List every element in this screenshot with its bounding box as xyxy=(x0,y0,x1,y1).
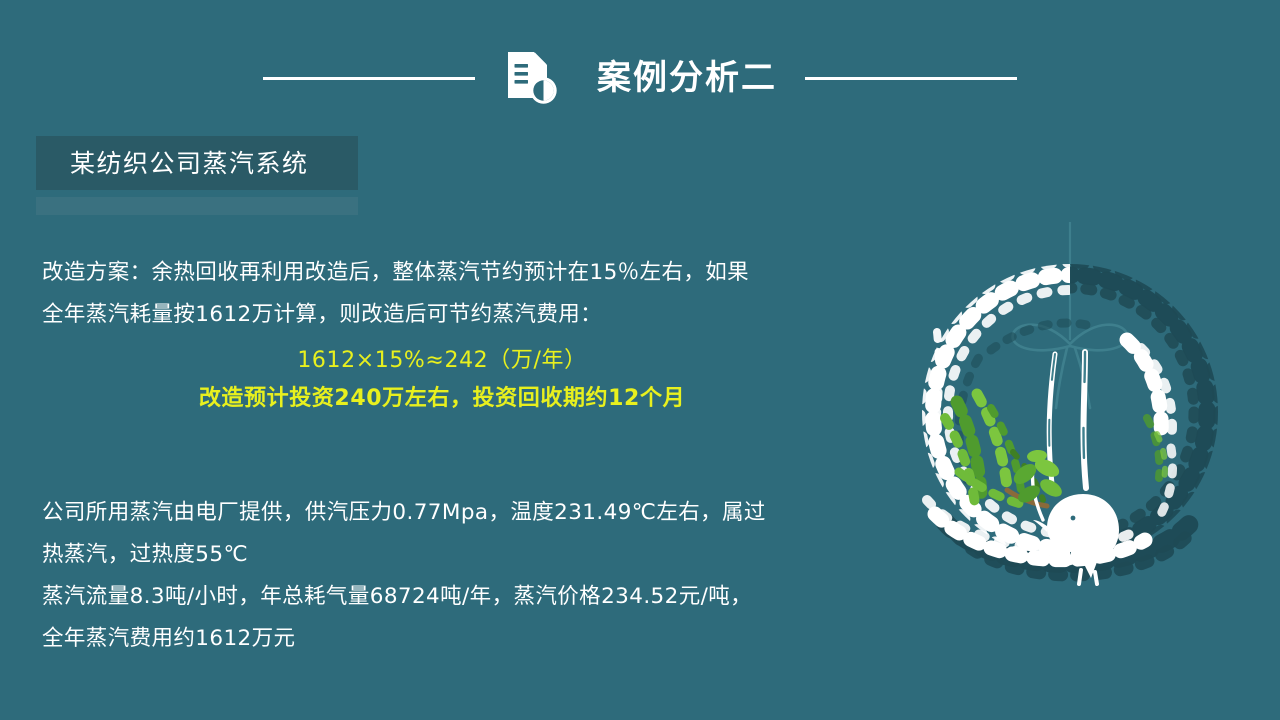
section-title-label: 某纺织公司蒸汽系统 xyxy=(70,151,309,176)
details-line-1: 公司所用蒸汽由电厂提供，供汽压力0.77Mpa，温度231.49℃左右，属过 xyxy=(42,492,766,534)
wreath-illustration xyxy=(895,222,1245,634)
divider-line-right-icon xyxy=(805,77,1017,80)
section-title-box: 某纺织公司蒸汽系统 xyxy=(36,136,358,190)
details-line-3: 蒸汽流量8.3吨/小时，年总耗气量68724吨/年，蒸汽价格234.52元/吨， xyxy=(42,576,766,618)
highlight-formula: 1612×15%≈242（万/年） xyxy=(42,346,842,376)
twig-wreath-light-icon xyxy=(920,262,1220,562)
ribbon-tails-icon xyxy=(1049,352,1086,488)
slide-header: 案例分析二 xyxy=(0,46,1280,110)
details-line-4: 全年蒸汽费用约1612万元 xyxy=(42,618,766,660)
intro-line-2: 全年蒸汽耗量按1612万计算，则改造后可节约蒸汽费用： xyxy=(42,294,749,336)
leaf-sprig-icon xyxy=(1010,449,1065,520)
details-paragraph: 公司所用蒸汽由电厂提供，供汽压力0.77Mpa，温度231.49℃左右，属过 热… xyxy=(42,492,766,660)
bow-icon xyxy=(1013,325,1128,408)
twig-wreath-dark-icon xyxy=(920,262,1220,575)
highlight-note: 改造预计投资240万左右，投资回收期约12个月 xyxy=(42,384,842,414)
white-bird-icon xyxy=(1010,449,1119,584)
intro-paragraph: 改造方案：余热回收再利用改造后，整体蒸汽节约预计在15％左右，如果 全年蒸汽耗量… xyxy=(42,252,749,336)
details-line-2: 热蒸汽，过热度55℃ xyxy=(42,534,766,576)
slide-canvas: 案例分析二 某纺织公司蒸汽系统 改造方案：余热回收再利用改造后，整体蒸汽节约预计… xyxy=(0,0,1280,720)
page-title: 案例分析二 xyxy=(597,61,777,95)
green-foliage-icon xyxy=(945,394,1165,506)
intro-line-1: 改造方案：余热回收再利用改造后，整体蒸汽节约预计在15％左右，如果 xyxy=(42,252,749,294)
document-chart-icon xyxy=(503,49,561,107)
section-accent-bar xyxy=(36,197,358,215)
divider-line-left-icon xyxy=(263,77,475,80)
